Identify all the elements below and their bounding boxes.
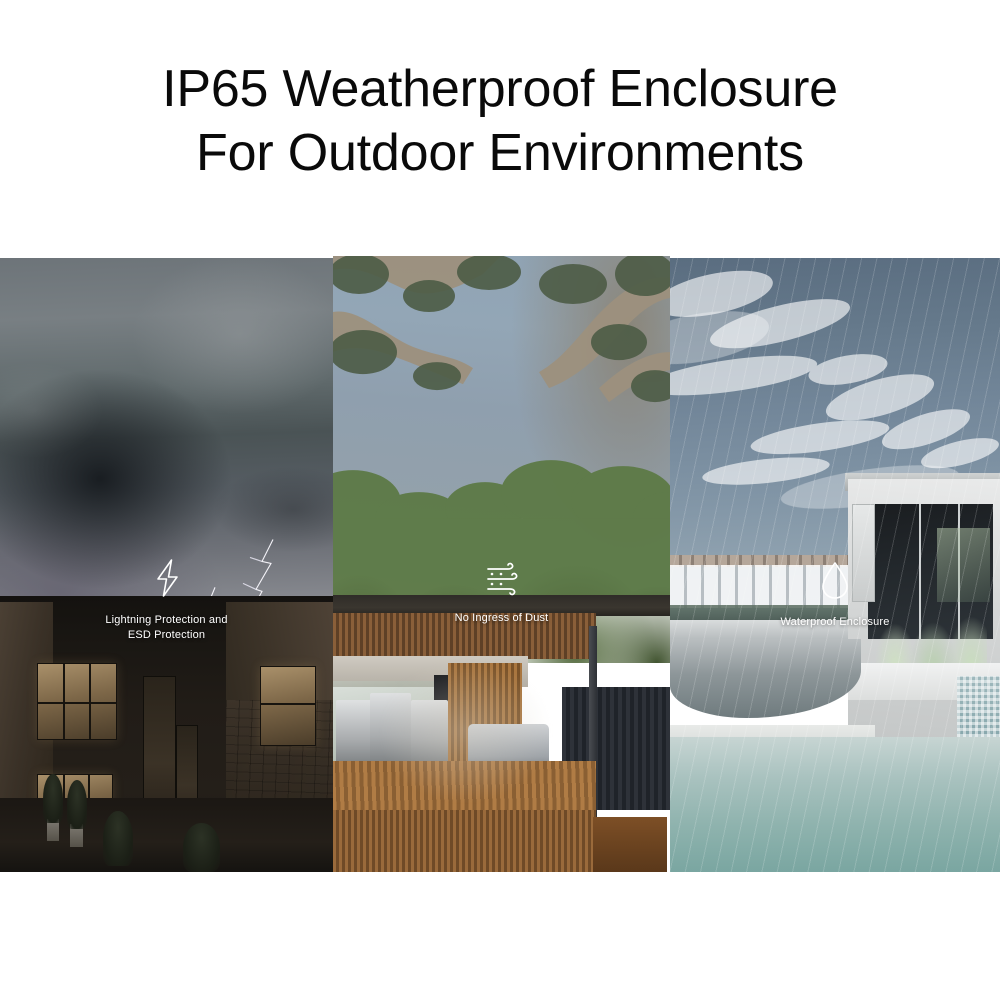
dust-cloud — [353, 638, 575, 823]
scene-timber-house — [333, 256, 670, 872]
potted-plant — [43, 774, 63, 823]
shrub — [103, 811, 133, 866]
page-title: IP65 Weatherproof Enclosure For Outdoor … — [0, 57, 1000, 185]
roof-parapet — [670, 620, 855, 640]
feature-panel-waterproof: Waterproof Enclosure — [670, 258, 1000, 872]
building-window-upper-left — [37, 663, 117, 740]
shrub — [183, 823, 220, 872]
feature-panel-dust: No Ingress of Dust — [333, 256, 670, 872]
building-window-right — [260, 666, 317, 746]
timber-planter-box — [593, 817, 667, 872]
feature-panel-lightning: Lightning Protection and ESD Protection — [0, 258, 333, 872]
page-title-line-2: For Outdoor Environments — [0, 121, 1000, 185]
page-title-line-1: IP65 Weatherproof Enclosure — [0, 57, 1000, 121]
potted-plant — [67, 780, 87, 829]
wall-panel — [852, 504, 875, 602]
swimming-pool — [670, 737, 1000, 872]
scene-storm-building — [0, 258, 333, 872]
distant-treeline — [670, 605, 875, 621]
promo-banner: IP65 Weatherproof Enclosure For Outdoor … — [0, 0, 1000, 1000]
glass-reflection — [937, 528, 990, 602]
city-skyline-buildings — [670, 565, 861, 608]
curved-canopy — [670, 639, 861, 719]
scene-rain-pool-villa — [670, 258, 1000, 872]
feature-panels: Lightning Protection and ESD Protection — [0, 256, 1000, 872]
